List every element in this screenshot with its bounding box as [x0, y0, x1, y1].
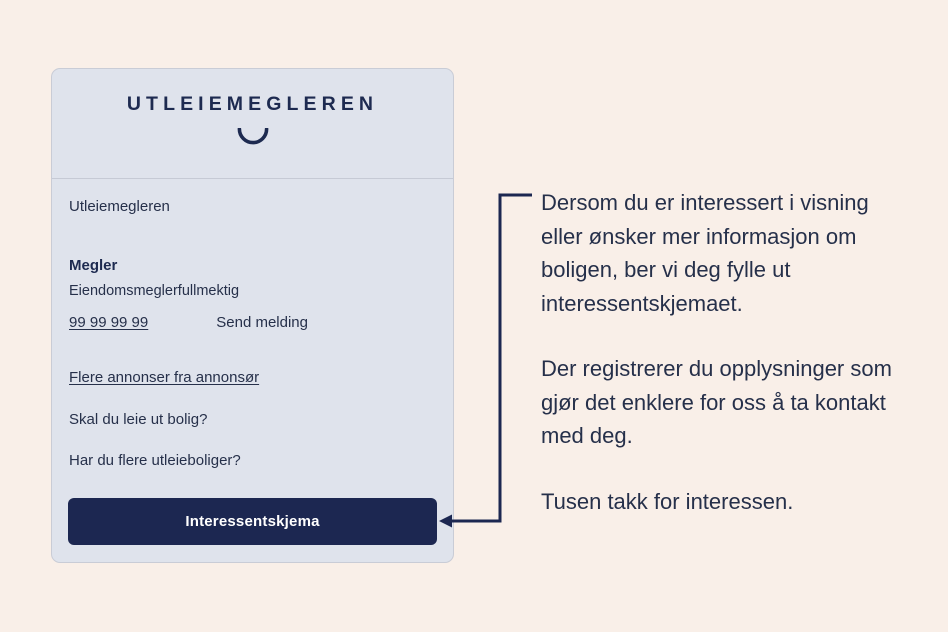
phone-number-link[interactable]: 99 99 99 99 — [69, 314, 148, 331]
card-body: Utleiemegleren Megler Eiendomsmeglerfull… — [52, 179, 453, 562]
links-block: Flere annonser fra annonsør Skal du leie… — [69, 369, 436, 469]
company-name: Utleiemegleren — [69, 198, 436, 216]
rent-out-home-link[interactable]: Skal du leie ut bolig? — [69, 411, 436, 428]
annotation-paragraph-2: Der registrerer du opplysninger som gjør… — [541, 352, 911, 453]
agent-role-title: Megler — [69, 257, 436, 276]
annotation-text-block: Dersom du er interessert i visning eller… — [541, 186, 911, 518]
agent-role-subtitle: Eiendomsmeglerfullmektig — [69, 282, 436, 300]
interest-form-button[interactable]: Interessentskjema — [68, 498, 437, 545]
contact-row: 99 99 99 99 Send melding — [69, 314, 436, 331]
brand-wordmark: UTLEIEMEGLEREN — [127, 95, 378, 115]
agent-info-block: Megler Eiendomsmeglerfullmektig 99 99 99… — [69, 257, 436, 331]
more-ads-from-advertiser-link[interactable]: Flere annonser fra annonsør — [69, 369, 259, 386]
multiple-rentals-link[interactable]: Har du flere utleieboliger? — [69, 452, 436, 469]
agent-contact-card: UTLEIEMEGLEREN Utleiemegleren Megler Eie… — [51, 68, 454, 563]
smile-arc-icon — [237, 128, 269, 145]
card-header: UTLEIEMEGLEREN — [52, 69, 453, 179]
annotation-paragraph-1: Dersom du er interessert i visning eller… — [541, 186, 911, 320]
send-message-link[interactable]: Send melding — [216, 314, 308, 331]
annotation-paragraph-3: Tusen takk for interessen. — [541, 485, 911, 519]
